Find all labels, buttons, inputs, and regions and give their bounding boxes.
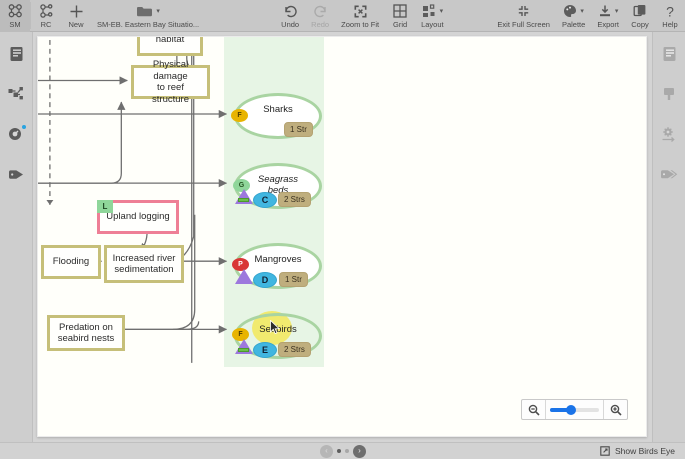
- network-graph-icon: [8, 86, 25, 102]
- chevron-left-icon: ‹: [325, 447, 328, 455]
- download-icon: ▾: [598, 4, 619, 19]
- diagram-box-upland-logging[interactable]: L Upland logging: [97, 200, 179, 234]
- node-strength-mangroves: 1 Str: [279, 272, 308, 287]
- tag-icon: [8, 167, 25, 182]
- network-nodes-icon: [8, 4, 23, 19]
- node-label: Sharks: [263, 104, 293, 115]
- sidebar-item-tag[interactable]: [6, 164, 26, 184]
- notification-badge: [21, 124, 27, 130]
- toolbar-button-palette[interactable]: ▾ Palette: [556, 0, 591, 32]
- node-pin-sharks[interactable]: F: [231, 109, 248, 122]
- gear-arrow-icon: [661, 126, 678, 143]
- status-bar: ‹ › Show Birds Eye: [0, 442, 685, 459]
- toolbar-group-right: Exit Full Screen ▾ Palette: [491, 0, 685, 31]
- chevron-down-icon: ▾: [440, 7, 444, 15]
- question-mark-icon: ?: [663, 4, 677, 19]
- page-navigation: ‹ ›: [320, 445, 366, 458]
- chevron-down-icon: ▾: [615, 7, 619, 15]
- toolbar-label-palette: Palette: [562, 20, 585, 30]
- box-label: Predation on seabird nests: [58, 322, 115, 345]
- node-triangle-bar-seabirds: [238, 348, 249, 352]
- toolbar-label-export: Export: [597, 20, 619, 30]
- toolbar-button-copy[interactable]: Copy: [625, 0, 655, 32]
- birds-eye-label: Show Birds Eye: [615, 446, 675, 456]
- prev-page-button[interactable]: ‹: [320, 445, 333, 458]
- toolbar-label-new: New: [68, 20, 83, 30]
- zoom-in-button[interactable]: [604, 400, 627, 419]
- toolbar-label-open-model: SM-EB. Eastern Bay Situatio...: [97, 20, 199, 30]
- document-list-icon: [662, 46, 677, 62]
- toolbar-button-open-model[interactable]: ▾ SM-EB. Eastern Bay Situatio...: [91, 0, 205, 32]
- toolbar-label-redo: Redo: [311, 20, 329, 30]
- toolbar-label-rc: RC: [41, 20, 52, 30]
- node-strength-seabirds: 2 Strs: [278, 342, 311, 357]
- diagram-box-increased-river-sedimentation[interactable]: Increased river sedimentation: [104, 245, 184, 283]
- node-oval-seabirds[interactable]: E: [253, 342, 277, 358]
- toolbar-button-help[interactable]: ? Help: [655, 0, 685, 32]
- sidebar-item-settings[interactable]: [659, 124, 679, 144]
- connector-lines: [38, 37, 646, 436]
- strength-label: 2 Strs: [284, 345, 305, 354]
- document-list-icon: [9, 46, 24, 62]
- chevron-down-icon: ▾: [580, 7, 584, 15]
- diagram-box-physical-damage[interactable]: Physical damage to reef structure: [131, 65, 210, 99]
- toolbar-label-zoom-to-fit: Zoom to Fit: [341, 20, 379, 30]
- branch-nodes-icon: [39, 4, 54, 19]
- node-strength-seagrass-beds: 2 Strs: [278, 192, 311, 207]
- toolbar-label-grid: Grid: [393, 20, 407, 30]
- strength-label: 2 Strs: [284, 195, 305, 204]
- sidebar-item-document-list[interactable]: [6, 44, 26, 64]
- sidebar-item-pin[interactable]: [659, 84, 679, 104]
- chevron-down-icon: ▾: [156, 7, 160, 15]
- sidebar-item-labels[interactable]: [659, 164, 679, 184]
- tags-icon: [660, 167, 678, 182]
- strength-label: 1 Str: [290, 125, 307, 134]
- toolbar-group-left: SM RC: [0, 0, 205, 31]
- expand-arrows-icon: [353, 4, 368, 19]
- toolbar-button-layout[interactable]: ▾ Layout: [415, 0, 450, 32]
- grid-icon: [393, 4, 407, 19]
- toolbar-button-undo[interactable]: Undo: [275, 0, 305, 32]
- zoom-slider[interactable]: [546, 400, 603, 419]
- diagram-box-predation-seabird-nests[interactable]: Predation on seabird nests: [47, 315, 125, 351]
- toolbar-label-sm: SM: [9, 20, 20, 30]
- expand-box-icon: [600, 446, 610, 456]
- mouse-cursor-icon: [270, 320, 281, 335]
- node-label: Mangroves: [255, 254, 302, 265]
- main-toolbar: SM RC: [0, 0, 685, 32]
- box-label: habitat: [156, 36, 185, 45]
- pin-letter: G: [239, 182, 244, 189]
- chevron-right-icon: ›: [358, 447, 361, 455]
- diagram-box-flooding[interactable]: Flooding: [41, 245, 101, 279]
- redo-arrow-icon: [313, 4, 328, 19]
- toolbar-label-help: Help: [662, 20, 677, 30]
- diagram-box-habitat[interactable]: habitat: [137, 36, 203, 56]
- layout-nodes-icon: ▾: [422, 4, 444, 19]
- toolbar-button-zoom-to-fit[interactable]: Zoom to Fit: [335, 0, 385, 32]
- strength-label: 1 Str: [285, 275, 302, 284]
- toolbar-label-undo: Undo: [281, 20, 299, 30]
- toolbar-button-exit-full-screen[interactable]: Exit Full Screen: [491, 0, 556, 32]
- diagram-canvas[interactable]: habitat Physical damage to reef structur…: [37, 36, 647, 437]
- pin-letter: P: [238, 261, 243, 268]
- toolbar-button-export[interactable]: ▾ Export: [591, 0, 625, 32]
- sidebar-item-visibility[interactable]: [6, 124, 26, 144]
- toolbar-button-grid[interactable]: Grid: [385, 0, 415, 32]
- oval-letter-text: D: [262, 275, 269, 285]
- magnifier-minus-icon: [528, 404, 540, 416]
- folder-icon: ▾: [136, 4, 160, 19]
- pin-letter: F: [238, 331, 242, 338]
- toolbar-button-sm[interactable]: SM: [0, 0, 30, 32]
- oval-letter-text: C: [262, 195, 269, 205]
- node-triangle-mangroves: [235, 269, 253, 284]
- show-birds-eye-button[interactable]: Show Birds Eye: [600, 446, 675, 456]
- copy-icon: [633, 4, 647, 19]
- pin-marker-icon: [661, 86, 677, 102]
- toolbar-group-center: Undo Redo Zoom to Fit: [275, 0, 449, 31]
- next-page-button[interactable]: ›: [353, 445, 366, 458]
- application-window: SM RC: [0, 0, 685, 459]
- node-oval-mangroves[interactable]: D: [253, 272, 277, 288]
- sidebar-item-properties[interactable]: [659, 44, 679, 64]
- node-oval-seagrass-beds[interactable]: C: [253, 192, 277, 208]
- collapse-arrows-icon: [516, 4, 531, 19]
- pin-letter: F: [237, 112, 241, 119]
- page-dot[interactable]: [345, 449, 349, 453]
- node-triangle-bar-seagrass-beds: [238, 198, 249, 202]
- page-dot[interactable]: [337, 449, 341, 453]
- box-label: Flooding: [53, 256, 89, 268]
- toolbar-label-copy: Copy: [631, 20, 649, 30]
- left-sidebar: [0, 32, 33, 442]
- zoom-slider-thumb[interactable]: [566, 405, 576, 415]
- svg-text:?: ?: [666, 4, 674, 19]
- magnifier-plus-icon: [610, 404, 622, 416]
- right-sidebar: [652, 32, 685, 442]
- box-label: Physical damage to reef structure: [138, 59, 203, 105]
- undo-arrow-icon: [283, 4, 298, 19]
- toolbar-button-redo[interactable]: Redo: [305, 0, 335, 32]
- toolbar-button-new[interactable]: New: [61, 0, 91, 32]
- oval-letter-text: E: [262, 345, 268, 355]
- box-label: Increased river sedimentation: [113, 253, 176, 276]
- node-strength-sharks: 1 Str: [284, 122, 313, 137]
- canvas-container: habitat Physical damage to reef structur…: [33, 32, 652, 442]
- box-label: Upland logging: [106, 211, 169, 223]
- box-tag-badge: L: [97, 200, 113, 213]
- zoom-out-button[interactable]: [522, 400, 545, 419]
- sidebar-item-network-graph[interactable]: [6, 84, 26, 104]
- plus-icon: [69, 4, 84, 19]
- toolbar-button-rc[interactable]: RC: [31, 0, 61, 32]
- toolbar-label-layout: Layout: [421, 20, 444, 30]
- toolbar-label-exit-full-screen: Exit Full Screen: [497, 20, 550, 30]
- palette-icon: ▾: [563, 4, 584, 19]
- zoom-control[interactable]: [521, 399, 628, 420]
